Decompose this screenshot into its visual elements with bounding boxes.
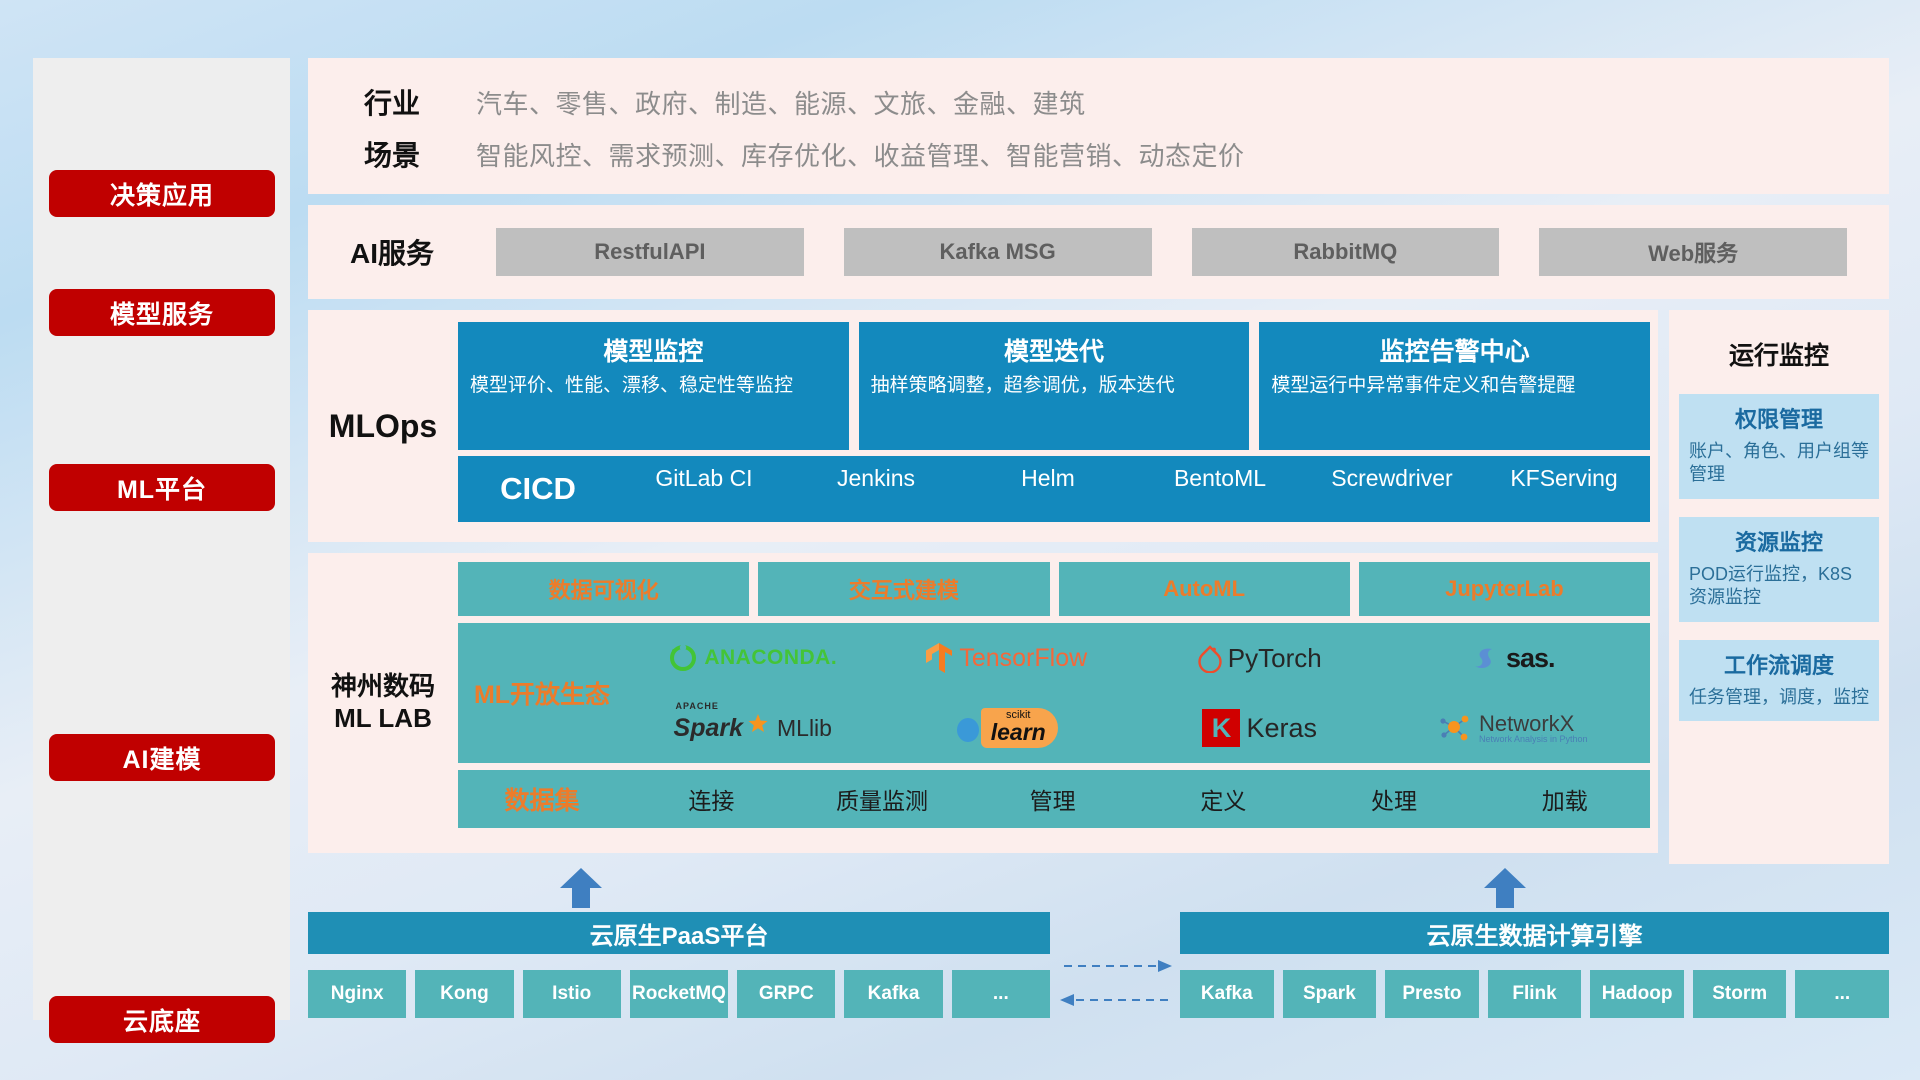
card-title: 模型迭代 [871,332,1238,368]
tool-interactive-modeling[interactable]: 交互式建模 [758,562,1049,616]
monitoring-card-permissions[interactable]: 权限管理 账户、角色、用户组等管理 [1679,394,1879,499]
card-title: 资源监控 [1689,525,1869,557]
spark-star-icon [747,713,769,735]
scenario-value: 智能风控、需求预测、库存优化、收益管理、智能营销、动态定价 [476,136,1245,173]
rail-item-label: ML平台 [117,470,207,506]
up-arrow-icon-engine [1484,868,1526,908]
chip-more-paas[interactable]: ... [952,970,1050,1018]
tool-jupyterlab[interactable]: JupyterLab [1359,562,1650,616]
dataset-item-quality-monitoring[interactable]: 质量监测 [797,782,968,816]
spark-wordmark: Spark [674,714,743,742]
mllib-wordmark: MLlib [777,715,832,742]
ml-lab-body: 数据可视化 交互式建模 AutoML JupyterLab ML开放生态 [458,562,1658,844]
industry-key: 行业 [308,82,476,122]
layer-rail: 决策应用 模型服务 ML平台 AI建模 云底座 [33,58,290,1020]
ai-service-key: AI服务 [308,232,476,272]
ml-ecosystem-logos: ANACONDA. TensorFlow [626,623,1650,763]
data-engine-bar[interactable]: 云原生数据计算引擎 [1180,912,1889,954]
application-row-scenario: 场景 智能风控、需求预测、库存优化、收益管理、智能营销、动态定价 [308,128,1889,180]
sas-icon [1472,644,1500,672]
main-column: 行业 汽车、零售、政府、制造、能源、文旅、金融、建筑 场景 智能风控、需求预测、… [308,58,1889,864]
tensorflow-logo: TensorFlow [925,642,1087,674]
chip-rocketmq[interactable]: RocketMQ [630,970,728,1018]
ml-ecosystem-label: ML开放生态 [458,675,626,711]
mlops-cards: 模型监控 模型评价、性能、漂移、稳定性等监控 模型迭代 抽样策略调整，超参调优，… [458,322,1650,450]
service-button-kafka-msg[interactable]: Kafka MSG [844,228,1152,276]
applications-band: 行业 汽车、零售、政府、制造、能源、文旅、金融、建筑 场景 智能风控、需求预测、… [308,58,1889,194]
keras-logo: K Keras [1202,709,1317,747]
ml-lab-band: 神州数码 ML LAB 数据可视化 交互式建模 AutoML JupyterLa… [308,553,1658,853]
dataset-item-definition[interactable]: 定义 [1138,782,1309,816]
rail-item-label: AI建模 [122,740,201,776]
service-button-label: RabbitMQ [1293,239,1397,265]
anaconda-wordmark: ANACONDA. [704,646,837,670]
networkx-wordmark: NetworkX [1479,712,1588,735]
mlops-card-model-monitoring[interactable]: 模型监控 模型评价、性能、漂移、稳定性等监控 [458,322,849,450]
mlops-card-alert-center[interactable]: 监控告警中心 模型运行中异常事件定义和告警提醒 [1259,322,1650,450]
learn-wordmark: learn [991,721,1046,744]
service-button-restful-api[interactable]: RestfulAPI [496,228,804,276]
ai-service-band: AI服务 RestfulAPI Kafka MSG RabbitMQ Web服务 [308,205,1889,299]
card-desc: 任务管理，调度，监控 [1689,686,1869,709]
dataset-label: 数据集 [458,781,626,817]
spark-mllib-logo: APACHE Spark MLlib [674,713,832,743]
card-desc: 模型评价、性能、漂移、稳定性等监控 [470,374,837,398]
card-title: 模型监控 [470,332,837,368]
rail-item-label: 云底座 [123,1002,201,1038]
card-title: 监控告警中心 [1271,332,1638,368]
mlops-card-model-iteration[interactable]: 模型迭代 抽样策略调整，超参调优，版本迭代 [859,322,1250,450]
rail-item-cloud-base[interactable]: 云底座 [49,996,275,1043]
monitoring-rail: 运行监控 权限管理 账户、角色、用户组等管理 资源监控 POD运行监控，K8S资… [1669,310,1889,864]
networkx-logo: NetworkX Network Analysis in Python [1439,712,1588,745]
chip-storm[interactable]: Storm [1693,970,1787,1018]
card-title: 权限管理 [1689,402,1869,434]
chip-kafka[interactable]: Kafka [844,970,942,1018]
dataset-row: 数据集 连接 质量监测 管理 定义 处理 加载 [458,770,1650,828]
keras-mark: K [1202,709,1240,747]
rail-item-decision-apps[interactable]: 决策应用 [49,170,275,217]
mlops-body: 模型监控 模型评价、性能、漂移、稳定性等监控 模型迭代 抽样策略调整，超参调优，… [458,322,1658,530]
anaconda-icon [668,643,698,673]
service-button-label: Kafka MSG [940,239,1056,265]
card-desc: POD运行监控，K8S资源监控 [1689,563,1869,610]
chip-spark[interactable]: Spark [1283,970,1377,1018]
ai-service-items: RestfulAPI Kafka MSG RabbitMQ Web服务 [476,228,1889,276]
monitoring-card-resources[interactable]: 资源监控 POD运行监控，K8S资源监控 [1679,517,1879,622]
scikit-learn-logo: scikit learn [955,708,1058,748]
networkx-icon [1439,713,1473,743]
tool-automl[interactable]: AutoML [1059,562,1350,616]
ml-ecosystem-row: ML开放生态 ANACONDA. [458,623,1650,763]
card-desc: 账户、角色、用户组等管理 [1689,440,1869,487]
rail-item-ai-modeling[interactable]: AI建模 [49,734,275,781]
mlops-band: MLOps 模型监控 模型评价、性能、漂移、稳定性等监控 模型迭代 抽样策略调整… [308,310,1658,542]
apache-wordmark: APACHE [676,701,719,711]
architecture-diagram: 决策应用 模型服务 ML平台 AI建模 云底座 行业 汽车、零售、政府、制造、能… [0,0,1920,1080]
rail-item-label: 模型服务 [110,295,214,331]
chip-grpc[interactable]: GRPC [737,970,835,1018]
cicd-item-jenkins[interactable]: Jenkins [790,466,962,491]
industry-value: 汽车、零售、政府、制造、能源、文旅、金融、建筑 [476,84,1086,121]
dataset-item-loading[interactable]: 加载 [1479,782,1650,816]
chip-nginx[interactable]: Nginx [308,970,406,1018]
card-desc: 模型运行中异常事件定义和告警提醒 [1271,374,1638,398]
dataset-item-connect[interactable]: 连接 [626,782,797,816]
sas-wordmark: sas. [1506,643,1555,674]
tensorflow-icon [925,642,953,674]
monitoring-card-workflow[interactable]: 工作流调度 任务管理，调度，监控 [1679,640,1879,721]
dataset-item-processing[interactable]: 处理 [1309,782,1480,816]
chip-kafka-engine[interactable]: Kafka [1180,970,1274,1018]
cicd-item-kfserving[interactable]: KFServing [1478,466,1650,491]
card-title: 工作流调度 [1689,648,1869,680]
cicd-strip: CICD GitLab CI Jenkins Helm BentoML Scre… [458,456,1650,522]
cicd-item-helm[interactable]: Helm [962,466,1134,491]
cicd-item-gitlab-ci[interactable]: GitLab CI [618,466,790,491]
paas-platform-bar[interactable]: 云原生PaaS平台 [308,912,1050,954]
dataset-item-management[interactable]: 管理 [967,782,1138,816]
cicd-item-screwdriver[interactable]: Screwdriver [1306,466,1478,491]
data-engine-title: 云原生数据计算引擎 [1427,916,1643,951]
ml-lab-tools: 数据可视化 交互式建模 AutoML JupyterLab [458,562,1650,616]
platform-and-monitoring: MLOps 模型监控 模型评价、性能、漂移、稳定性等监控 模型迭代 抽样策略调整… [308,310,1889,864]
rail-item-label: 决策应用 [110,176,214,212]
chip-more-engine[interactable]: ... [1795,970,1889,1018]
chip-hadoop[interactable]: Hadoop [1590,970,1684,1018]
platform-column: MLOps 模型监控 模型评价、性能、漂移、稳定性等监控 模型迭代 抽样策略调整… [308,310,1658,864]
card-desc: 抽样策略调整，超参调优，版本迭代 [871,374,1238,398]
networkx-tagline: Network Analysis in Python [1479,735,1588,744]
bidirectional-dashed-links [1060,954,1172,1014]
tool-data-visualization[interactable]: 数据可视化 [458,562,749,616]
chip-kong[interactable]: Kong [415,970,513,1018]
cicd-label: CICD [458,471,618,507]
paas-chip-row: Nginx Kong Istio RocketMQ GRPC Kafka ... [308,970,1050,1018]
ml-lab-key-line1: 神州数码 [331,671,435,703]
scenario-key: 场景 [308,134,476,174]
pytorch-logo: PyTorch [1198,643,1322,674]
service-button-rabbitmq[interactable]: RabbitMQ [1192,228,1500,276]
service-button-web-service[interactable]: Web服务 [1539,228,1847,276]
pytorch-wordmark: PyTorch [1228,643,1322,674]
paas-platform-title: 云原生PaaS平台 [590,916,769,951]
monitoring-title: 运行监控 [1679,336,1879,372]
mlops-key: MLOps [308,322,458,530]
pytorch-icon [1198,643,1222,673]
service-button-label: RestfulAPI [594,239,705,265]
ml-lab-key-line2: ML LAB [334,703,432,735]
tensorflow-wordmark: TensorFlow [959,644,1087,673]
cicd-item-bentoml[interactable]: BentoML [1134,466,1306,491]
up-arrow-icon-paas [560,868,602,908]
ml-lab-key: 神州数码 ML LAB [308,562,458,844]
application-row-industry: 行业 汽车、零售、政府、制造、能源、文旅、金融、建筑 [308,76,1889,128]
keras-wordmark: Keras [1246,713,1317,744]
service-button-label: Web服务 [1648,236,1738,268]
scikit-blob-icon [955,713,981,743]
engine-chip-row: Kafka Spark Presto Flink Hadoop Storm ..… [1180,970,1889,1018]
rail-item-ml-platform[interactable]: ML平台 [49,464,275,511]
chip-presto[interactable]: Presto [1385,970,1479,1018]
chip-istio[interactable]: Istio [523,970,621,1018]
rail-item-model-service[interactable]: 模型服务 [49,289,275,336]
cloud-base-layer: 云原生PaaS平台 云原生数据计算引擎 Nginx Kong Istio Roc… [308,890,1889,1040]
anaconda-logo: ANACONDA. [668,643,837,673]
chip-flink[interactable]: Flink [1488,970,1582,1018]
sas-logo: sas. [1472,643,1555,674]
